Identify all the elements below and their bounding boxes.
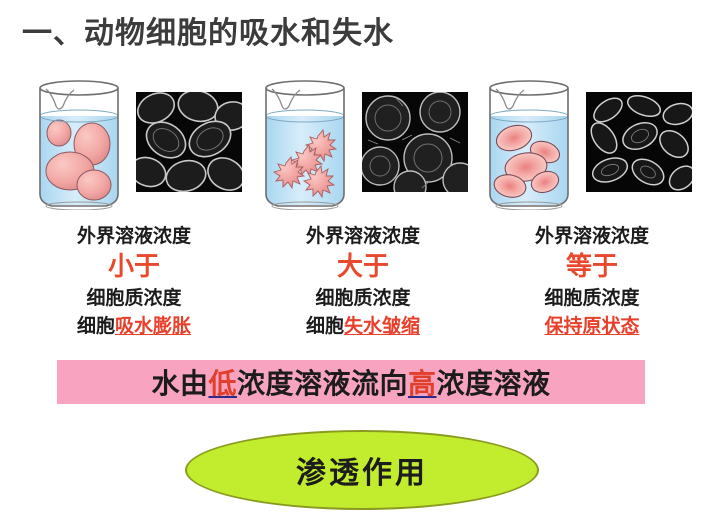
banner-part-2: 浓度溶液流向 — [237, 367, 408, 400]
page-title: 一、动物细胞的吸水和失水 — [22, 8, 394, 52]
result-prefix: 细胞 — [77, 315, 115, 337]
cytoplasm-concentration-label: 细胞质浓度 — [14, 284, 254, 312]
banner-part-1: 水由 — [151, 367, 208, 400]
result-emphasis: 失水皱缩 — [344, 315, 420, 337]
result-line: 细胞吸水膨胀 — [14, 312, 254, 340]
panel-hypertonic — [252, 66, 474, 216]
panel-hypotonic — [26, 66, 248, 216]
caption-column-hypertonic: 外界溶液浓度 大于 细胞质浓度 细胞失水皱缩 — [243, 222, 483, 340]
caption-column-isotonic: 外界溶液浓度 等于 细胞质浓度 保持原状态 — [472, 222, 712, 340]
banner-highlight-high: 高 — [408, 367, 437, 400]
caption-row: 外界溶液浓度 小于 细胞质浓度 细胞吸水膨胀 外界溶液浓度 大于 细胞质浓度 细… — [0, 222, 720, 352]
external-concentration-label: 外界溶液浓度 — [472, 222, 712, 250]
conclusion-label: 渗透作用 — [296, 448, 428, 492]
figure-row — [0, 66, 720, 216]
beaker-normal-cells — [482, 68, 576, 210]
cytoplasm-concentration-label: 细胞质浓度 — [243, 284, 483, 312]
beaker-crenated-cells — [258, 68, 352, 210]
water-flow-banner: 水由低浓度溶液流向高浓度溶液 — [57, 360, 645, 404]
result-line: 保持原状态 — [472, 312, 712, 340]
external-concentration-label: 外界溶液浓度 — [243, 222, 483, 250]
caption-column-hypotonic: 外界溶液浓度 小于 细胞质浓度 细胞吸水膨胀 — [14, 222, 254, 340]
comparison-word: 等于 — [472, 250, 712, 284]
result-line: 细胞失水皱缩 — [243, 312, 483, 340]
banner-part-3: 浓度溶液 — [437, 367, 551, 400]
comparison-word: 大于 — [243, 250, 483, 284]
sem-crenated-cells — [362, 92, 468, 192]
water-flow-statement: 水由低浓度溶液流向高浓度溶液 — [151, 362, 550, 402]
panel-isotonic — [476, 66, 698, 216]
conclusion-ellipse: 渗透作用 — [185, 430, 539, 510]
comparison-word: 小于 — [14, 250, 254, 284]
banner-highlight-low: 低 — [208, 367, 237, 400]
sem-normal-cells — [586, 92, 692, 192]
cytoplasm-concentration-label: 细胞质浓度 — [472, 284, 712, 312]
external-concentration-label: 外界溶液浓度 — [14, 222, 254, 250]
sem-swollen-cells — [136, 92, 242, 192]
result-prefix: 细胞 — [306, 315, 344, 337]
result-emphasis: 吸水膨胀 — [115, 315, 191, 337]
result-emphasis: 保持原状态 — [544, 315, 639, 337]
beaker-swollen-cells — [32, 68, 126, 210]
